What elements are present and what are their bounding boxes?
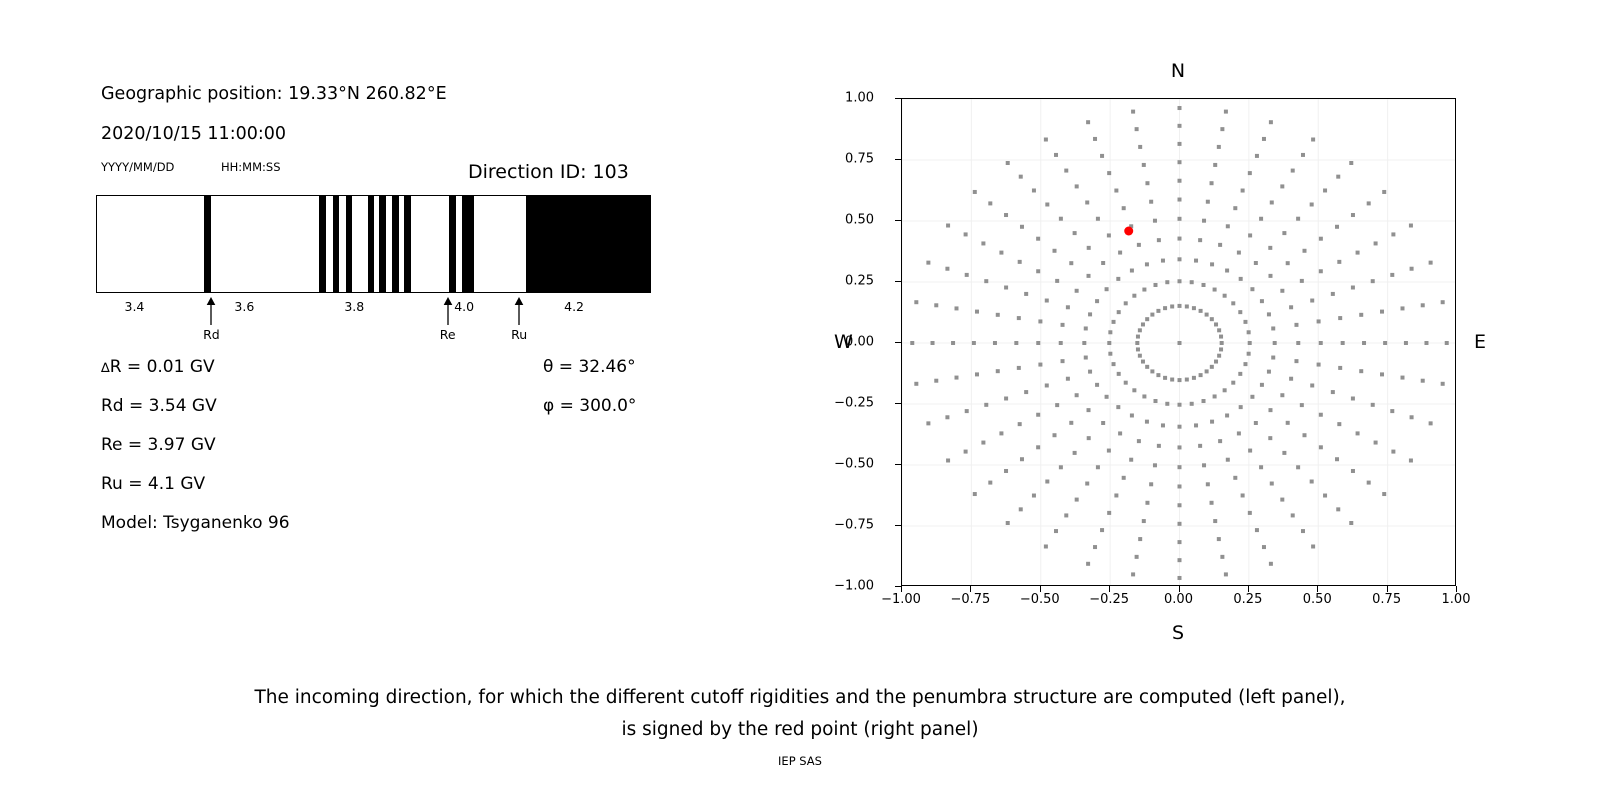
direction-point [1255, 154, 1259, 158]
direction-label-east: E [1474, 331, 1486, 353]
direction-point [1170, 378, 1174, 382]
direction-point [1367, 481, 1371, 485]
direction-point [1055, 403, 1059, 407]
direction-point [1219, 335, 1223, 339]
direction-point [1380, 310, 1384, 314]
direction-point [1145, 420, 1149, 424]
penumbra-band [462, 196, 474, 292]
direction-point [931, 341, 935, 345]
direction-point [1259, 465, 1263, 469]
direction-point [1157, 238, 1161, 242]
direction-point [1045, 202, 1049, 206]
direction-point [1421, 379, 1425, 383]
direction-point [964, 450, 968, 454]
direction-point [1198, 238, 1202, 242]
direction-point [1238, 372, 1242, 376]
direction-point [1220, 555, 1224, 559]
direction-point [1383, 341, 1387, 345]
direction-point [1018, 422, 1022, 426]
direction-point [1338, 316, 1342, 320]
direction-point [1323, 188, 1327, 192]
direction-point [1217, 328, 1221, 332]
direction-point [1185, 304, 1189, 308]
direction-point [1165, 402, 1169, 406]
direction-point [1217, 145, 1221, 149]
direction-point [1153, 283, 1157, 287]
direction-point [1161, 259, 1165, 263]
direction-point [1116, 277, 1120, 281]
direction-point [1210, 365, 1214, 369]
direction-point [1036, 341, 1040, 345]
direction-point [1014, 341, 1018, 345]
direction-point [1241, 493, 1245, 497]
sky-map-svg [902, 99, 1456, 586]
direction-point [1225, 269, 1229, 273]
penumbra-band [526, 196, 651, 292]
direction-point [1178, 503, 1182, 507]
y-axis-tick-label: 0.00 [845, 335, 874, 350]
direction-point [1280, 498, 1284, 502]
direction-point [1066, 305, 1070, 309]
direction-point [1202, 399, 1206, 403]
direction-point [1137, 243, 1141, 247]
x-axis-tick-label: −0.25 [1089, 592, 1129, 607]
direction-point [1086, 562, 1090, 566]
direction-point [1404, 341, 1408, 345]
x-axis-tick-mark [1387, 586, 1388, 592]
direction-point [1108, 330, 1112, 334]
direction-point [1218, 243, 1222, 247]
direction-point [955, 376, 959, 380]
y-axis-tick-label: 0.25 [845, 274, 874, 289]
direction-point [981, 441, 985, 445]
direction-point [981, 241, 985, 245]
y-axis-tick-mark [895, 220, 901, 221]
direction-point [1371, 279, 1375, 283]
theta-value: θ = 32.46° [543, 357, 636, 377]
direction-point [1296, 465, 1300, 469]
direction-point [1294, 323, 1298, 327]
direction-point [1087, 436, 1091, 440]
direction-point [975, 310, 979, 314]
direction-point [975, 372, 979, 376]
direction-point [1044, 138, 1048, 142]
direction-point [1122, 206, 1126, 210]
delta-r-text: R = 0.01 GV [110, 357, 215, 377]
direction-point [1248, 341, 1252, 345]
direction-point [1142, 163, 1146, 167]
direction-point [1087, 408, 1091, 412]
direction-point [1301, 153, 1305, 157]
penumbra-band [368, 196, 374, 292]
direction-point [1356, 251, 1360, 255]
marker-label-re: Re [440, 327, 456, 342]
direction-point [1349, 521, 1353, 525]
direction-point [1286, 421, 1290, 425]
direction-point [1310, 383, 1314, 387]
direction-point [1213, 288, 1217, 292]
x-axis-tick-mark [1456, 586, 1457, 592]
direction-point [1086, 120, 1090, 124]
direction-point [984, 279, 988, 283]
direction-point [1273, 341, 1277, 345]
rigidity-tick-label: 3.4 [125, 299, 145, 314]
direction-label-south: S [1172, 622, 1184, 644]
direction-point [1223, 388, 1227, 392]
direction-point [988, 481, 992, 485]
direction-point [926, 421, 930, 425]
caption-line-1: The incoming direction, for which the di… [0, 682, 1600, 714]
direction-point [1202, 219, 1206, 223]
direction-point [1429, 261, 1433, 265]
direction-point [1254, 261, 1258, 265]
direction-point [1150, 369, 1154, 373]
direction-point [1300, 279, 1304, 283]
direction-point [1107, 449, 1111, 453]
direction-point [1210, 501, 1214, 505]
direction-point [1409, 224, 1413, 228]
direction-point [1300, 403, 1304, 407]
direction-point [1351, 213, 1355, 217]
direction-point [1223, 294, 1227, 298]
direction-point [1061, 323, 1065, 327]
direction-point [1374, 441, 1378, 445]
direction-point [1006, 161, 1010, 165]
direction-point [1220, 341, 1224, 345]
direction-point [1132, 294, 1136, 298]
direction-point [1153, 219, 1157, 223]
direction-point [1054, 153, 1058, 157]
direction-point [1129, 458, 1133, 462]
direction-point [1205, 313, 1209, 317]
direction-point [1185, 378, 1189, 382]
direction-point [1064, 169, 1068, 173]
direction-point [1153, 463, 1157, 467]
direction-point [1095, 383, 1099, 387]
direction-point [1239, 405, 1243, 409]
direction-point [1163, 306, 1167, 310]
direction-point [1157, 444, 1161, 448]
direction-point [1178, 378, 1182, 382]
x-axis-tick-mark [1109, 586, 1110, 592]
direction-point [1445, 341, 1449, 345]
direction-point [1382, 492, 1386, 496]
ru-value: Ru = 4.1 GV [101, 474, 205, 494]
x-axis-tick-label: 0.75 [1372, 592, 1401, 607]
direction-point [1141, 322, 1145, 326]
rd-value: Rd = 3.54 GV [101, 396, 217, 416]
direction-point [1351, 286, 1355, 290]
direction-point [1088, 370, 1092, 374]
direction-point [1017, 366, 1021, 370]
direction-point [1130, 413, 1134, 417]
direction-point [1136, 335, 1140, 339]
direction-point [1250, 395, 1254, 399]
direction-point [1178, 142, 1182, 146]
direction-point [1178, 576, 1182, 580]
direction-point [1194, 423, 1198, 427]
direction-point [1004, 396, 1008, 400]
direction-point [1085, 200, 1089, 204]
direction-point [1409, 458, 1413, 462]
y-axis-tick-mark [895, 342, 901, 343]
direction-point [1319, 413, 1323, 417]
direction-point [1243, 362, 1247, 366]
direction-point [945, 267, 949, 271]
direction-point [1268, 408, 1272, 412]
direction-point [1226, 458, 1230, 462]
direction-point [1085, 482, 1089, 486]
direction-point [1270, 482, 1274, 486]
direction-point [1124, 381, 1128, 385]
penumbra-band [449, 196, 456, 292]
penumbra-band [204, 196, 211, 292]
direction-point [1341, 341, 1345, 345]
direction-point [1138, 537, 1142, 541]
direction-point [1206, 200, 1210, 204]
direction-point [1145, 365, 1149, 369]
direction-point [1319, 341, 1323, 345]
direction-point [1243, 320, 1247, 324]
direction-point [1178, 403, 1182, 407]
direction-point [1131, 572, 1135, 576]
direction-point [1107, 171, 1111, 175]
y-axis-tick-label: 0.50 [845, 213, 874, 228]
x-axis-tick-mark [1179, 586, 1180, 592]
direction-point [1178, 558, 1182, 562]
direction-point [1138, 354, 1142, 358]
direction-point [1410, 415, 1414, 419]
direction-point [914, 300, 918, 304]
re-value: Re = 3.97 GV [101, 435, 216, 455]
direction-point [972, 341, 976, 345]
direction-point [1351, 469, 1355, 473]
direction-point [1178, 160, 1182, 164]
direction-point [1036, 445, 1040, 449]
direction-point [1132, 388, 1136, 392]
direction-point [1135, 127, 1139, 131]
direction-point [1020, 225, 1024, 229]
direction-point [1238, 310, 1242, 314]
y-axis-tick-mark [895, 464, 901, 465]
direction-point [1059, 341, 1063, 345]
direction-point [1178, 257, 1182, 261]
direction-point [1199, 373, 1203, 377]
direction-point [1075, 393, 1079, 397]
direction-point [1136, 347, 1140, 351]
direction-point [1336, 507, 1340, 511]
direction-point [1237, 431, 1241, 435]
direction-point [1194, 259, 1198, 263]
direction-point [1269, 562, 1273, 566]
direction-point [1224, 110, 1228, 114]
penumbra-band [333, 196, 339, 292]
direction-point [1138, 328, 1142, 332]
x-axis-tick-mark [1248, 586, 1249, 592]
direction-point [1024, 390, 1028, 394]
x-axis-tick-label: 0.00 [1164, 592, 1193, 607]
direction-point [1391, 450, 1395, 454]
direction-point [1351, 396, 1355, 400]
direction-point [996, 369, 1000, 373]
direction-point [1142, 288, 1146, 292]
direction-point [1218, 439, 1222, 443]
time-format-hint: HH:MM:SS [221, 160, 281, 174]
direction-point [1219, 347, 1223, 351]
direction-point [1170, 304, 1174, 308]
x-axis-tick-mark [1040, 586, 1041, 592]
direction-point [1337, 422, 1341, 426]
direction-point [1073, 231, 1077, 235]
direction-point [1241, 189, 1245, 193]
direction-point [1317, 319, 1321, 323]
delta-r-value: ∆R = 0.01 GV [101, 357, 215, 377]
direction-point [1335, 225, 1339, 229]
direction-point [1044, 544, 1048, 548]
direction-point [1118, 251, 1122, 255]
direction-point [1359, 369, 1363, 373]
direction-point [1349, 161, 1353, 165]
direction-id-label: Direction ID: 103 [468, 161, 629, 183]
direction-point [1280, 289, 1284, 293]
direction-point [1356, 431, 1360, 435]
direction-point [1282, 231, 1286, 235]
direction-point [1163, 376, 1167, 380]
direction-point [1371, 403, 1375, 407]
direction-point [1382, 190, 1386, 194]
direction-point [1319, 445, 1323, 449]
direction-point [1210, 317, 1214, 321]
direction-point [1248, 171, 1252, 175]
direction-point [1178, 341, 1182, 345]
direction-point [1294, 359, 1298, 363]
direction-point [1331, 292, 1335, 296]
direction-point [1075, 289, 1079, 293]
direction-point [1319, 269, 1323, 273]
direction-point [1214, 322, 1218, 326]
direction-point [1311, 544, 1315, 548]
direction-point [1131, 110, 1135, 114]
direction-point [1410, 267, 1414, 271]
rigidity-tick-label: 4.0 [454, 299, 474, 314]
direction-point [1105, 287, 1109, 291]
direction-point [1260, 299, 1264, 303]
direction-point [1130, 269, 1134, 273]
direction-point [1038, 319, 1042, 323]
direction-point [934, 379, 938, 383]
direction-point [1178, 124, 1182, 128]
sky-map-panel: N S W E −1.00−0.75−0.50−0.250.000.250.50… [820, 40, 1520, 660]
direction-point [996, 313, 1000, 317]
direction-point [1391, 232, 1395, 236]
direction-point [1084, 326, 1088, 330]
direction-point [1114, 189, 1118, 193]
direction-point [1429, 421, 1433, 425]
direction-point [1255, 528, 1259, 532]
direction-point [1178, 465, 1182, 469]
direction-point [1054, 529, 1058, 533]
direction-point [1202, 463, 1206, 467]
direction-point [1217, 354, 1221, 358]
direction-point [1145, 317, 1149, 321]
direction-point [988, 201, 992, 205]
direction-point [1441, 300, 1445, 304]
x-axis-tick-label: −0.50 [1020, 592, 1060, 607]
direction-point [1390, 409, 1394, 413]
direction-point [1138, 145, 1142, 149]
direction-point [1093, 545, 1097, 549]
direction-point [1150, 313, 1154, 317]
direction-point [1156, 309, 1160, 313]
direction-point [1296, 341, 1300, 345]
y-axis-tick-mark [895, 525, 901, 526]
direction-point [1247, 352, 1251, 356]
direction-point [1280, 393, 1284, 397]
direction-point [999, 431, 1003, 435]
direction-point [1117, 372, 1121, 376]
direction-point [1302, 249, 1306, 253]
direction-point [1178, 106, 1182, 110]
direction-point [1108, 352, 1112, 356]
direction-point [1178, 279, 1182, 283]
y-axis-tick-label: −0.25 [834, 396, 874, 411]
direction-label-north: N [1171, 60, 1185, 82]
direction-point [1135, 341, 1139, 345]
direction-point [1004, 469, 1008, 473]
direction-point [1122, 476, 1126, 480]
direction-point [1317, 363, 1321, 367]
direction-point [1061, 359, 1065, 363]
direction-point [1302, 433, 1306, 437]
direction-point [1036, 413, 1040, 417]
direction-point [1359, 313, 1363, 317]
direction-point [1036, 269, 1040, 273]
direction-point [1112, 320, 1116, 324]
datetime-label: 2020/10/15 11:00:00 [101, 124, 286, 144]
direction-point [1362, 341, 1366, 345]
y-axis-tick-mark [895, 159, 901, 160]
direction-point [1161, 423, 1165, 427]
direction-point [1310, 299, 1314, 303]
direction-point [910, 341, 914, 345]
penumbra-band [346, 196, 352, 292]
direction-point [1045, 383, 1049, 387]
direction-point [1192, 306, 1196, 310]
direction-point [1296, 217, 1300, 221]
direction-point [1100, 528, 1104, 532]
direction-point [1117, 310, 1121, 314]
direction-point [1053, 433, 1057, 437]
direction-point [1019, 507, 1023, 511]
direction-point [1124, 301, 1128, 305]
direction-point [1248, 511, 1252, 515]
x-axis-tick-mark [901, 586, 902, 592]
direction-point [1217, 537, 1221, 541]
direction-point [1254, 421, 1258, 425]
direction-point [934, 303, 938, 307]
direction-point [1380, 372, 1384, 376]
rigidity-tick-label: 4.2 [564, 299, 584, 314]
direction-point [1271, 326, 1275, 330]
direction-point [1032, 494, 1036, 498]
direction-point [1087, 246, 1091, 250]
direction-point [973, 190, 977, 194]
geographic-position-label: Geographic position: 19.33°N 260.82°E [101, 84, 447, 104]
penumbra-band [392, 196, 399, 292]
direction-point [1100, 154, 1104, 158]
direction-point [984, 403, 988, 407]
direction-point [1262, 545, 1266, 549]
